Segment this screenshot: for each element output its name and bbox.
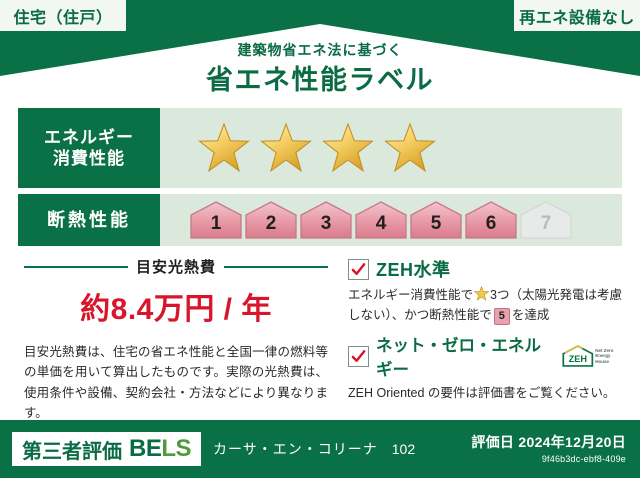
insulation-level-1: 1 — [188, 199, 244, 241]
cost-value: 約8.4万円 / 年 — [24, 284, 328, 328]
row-energy-label-line2: 消費性能 — [44, 148, 134, 169]
row-energy-performance: エネルギー 消費性能 — [18, 108, 622, 188]
property-name: カーサ・エン・コリーナ — [213, 439, 378, 459]
insulation-level-5: 5 — [408, 199, 464, 241]
label-content: エネルギー 消費性能 — [18, 96, 622, 414]
cost-heading-label: 目安光熱費 — [136, 256, 216, 277]
zeh-logo: ZEH Net Zero Energy House — [561, 343, 622, 369]
tag-building-type-label: 住宅（住戸） — [13, 4, 112, 28]
star-icon — [260, 122, 312, 174]
bels-logo-en-part2: LS — [161, 435, 191, 462]
evaluation-date: 評価日 2024年12月20日 — [471, 432, 626, 452]
bels-logo-jp: 第三者評価 — [22, 435, 122, 464]
tag-building-type: 住宅（住戸） — [0, 0, 126, 31]
bels-energy-label: 住宅（住戸） 再エネ設備なし 建築物省エネ法に基づく 省エネ性能ラベル エネルギ… — [0, 0, 640, 478]
cost-heading-rule-left — [24, 266, 128, 268]
check-zeh-standard: ZEH水準 エネルギー消費性能で3つ（太陽光発電は考慮しない）、かつ断熱性能で5… — [348, 256, 622, 325]
insulation-level-3-label: 3 — [321, 213, 332, 241]
star-icon — [384, 122, 436, 174]
roof-shape — [0, 24, 640, 96]
cost-heading-rule-right — [224, 266, 328, 268]
insulation-level-6: 6 — [463, 199, 519, 241]
check-zeh-standard-line: ZEH水準 — [348, 256, 622, 282]
bels-logo: 第三者評価 BELS — [12, 432, 201, 466]
row-energy-performance-value — [160, 108, 622, 188]
row-energy-performance-label: エネルギー 消費性能 — [18, 108, 160, 188]
evaluation-info: 評価日 2024年12月20日 9f46b3dc-ebf8-409e — [471, 432, 626, 464]
cost-column: 目安光熱費 約8.4万円 / 年 目安光熱費は、住宅の省エネ性能と全国一律の燃料… — [24, 256, 328, 423]
row-insulation-performance-label: 断熱性能 — [18, 194, 160, 246]
star-rating — [198, 122, 436, 174]
checkbox-checked[interactable] — [348, 346, 369, 367]
insulation-level-3: 3 — [298, 199, 354, 241]
cost-note: 目安光熱費は、住宅の省エネ性能と全国一律の燃料等の単価を用いて算出したものです。… — [24, 342, 328, 423]
zeh-house-icon: ZEH — [561, 343, 595, 369]
zeh-logo-subtext: Net Zero Energy House — [595, 348, 622, 364]
svg-text:ZEH: ZEH — [568, 354, 586, 364]
insulation-level-4-label: 4 — [376, 213, 387, 241]
checkbox-checked[interactable] — [348, 259, 369, 280]
footer-bar: 第三者評価 BELS カーサ・エン・コリーナ 102 評価日 2024年12月2… — [0, 420, 640, 478]
star-icon — [474, 286, 489, 301]
check-zeh-standard-desc: エネルギー消費性能で3つ（太陽光発電は考慮しない）、かつ断熱性能で5を達成 — [348, 285, 622, 325]
certification-column: ZEH水準 エネルギー消費性能で3つ（太陽光発電は考慮しない）、かつ断熱性能で5… — [348, 256, 622, 410]
check-net-zero-energy-desc: ZEH Oriented の要件は評価書をご覧ください。 — [348, 383, 622, 403]
insulation-level-7: 7 — [518, 199, 574, 241]
bels-logo-en-part1: BE — [129, 435, 161, 462]
row-insulation-performance-value: 1 2 3 — [160, 194, 622, 246]
insulation-level-4: 4 — [353, 199, 409, 241]
row-insulation-label: 断熱性能 — [47, 209, 131, 232]
insulation-level-1-label: 1 — [211, 213, 222, 241]
check-net-zero-energy: ネット・ゼロ・エネルギー ZEH Net Zero Energy House — [348, 332, 622, 403]
bels-logo-en: BELS — [129, 435, 191, 463]
desc-part3: を達成 — [512, 308, 550, 322]
star-icon — [198, 122, 250, 174]
insulation-level-7-label: 7 — [541, 213, 552, 241]
insulation-level-6-label: 6 — [486, 213, 497, 241]
check-icon — [351, 349, 366, 364]
zeh-logo-sub2: Energy House — [595, 353, 610, 363]
tag-renewable-equipment: 再エネ設備なし — [514, 0, 640, 31]
tag-renewable-equipment-label: 再エネ設備なし — [519, 4, 635, 28]
check-net-zero-energy-line: ネット・ゼロ・エネルギー ZEH Net Zero Energy House — [348, 332, 622, 380]
insulation-scale: 1 2 3 — [188, 199, 573, 241]
cost-heading: 目安光熱費 — [24, 256, 328, 277]
detail-columns: 目安光熱費 約8.4万円 / 年 目安光熱費は、住宅の省エネ性能と全国一律の燃料… — [18, 256, 622, 414]
insulation-badge: 5 — [494, 308, 510, 325]
check-icon — [351, 262, 366, 277]
property-unit: 102 — [392, 441, 415, 457]
row-energy-label-line1: エネルギー — [44, 127, 134, 148]
desc-part1: エネルギー消費性能で — [348, 288, 473, 302]
insulation-level-2: 2 — [243, 199, 299, 241]
star-icon — [322, 122, 374, 174]
check-zeh-standard-title: ZEH水準 — [376, 256, 451, 282]
check-net-zero-energy-title: ネット・ゼロ・エネルギー — [376, 332, 552, 380]
evaluation-id: 9f46b3dc-ebf8-409e — [471, 454, 626, 464]
row-insulation-performance: 断熱性能 1 — [18, 194, 622, 246]
insulation-level-2-label: 2 — [266, 213, 277, 241]
insulation-level-5-label: 5 — [431, 213, 442, 241]
